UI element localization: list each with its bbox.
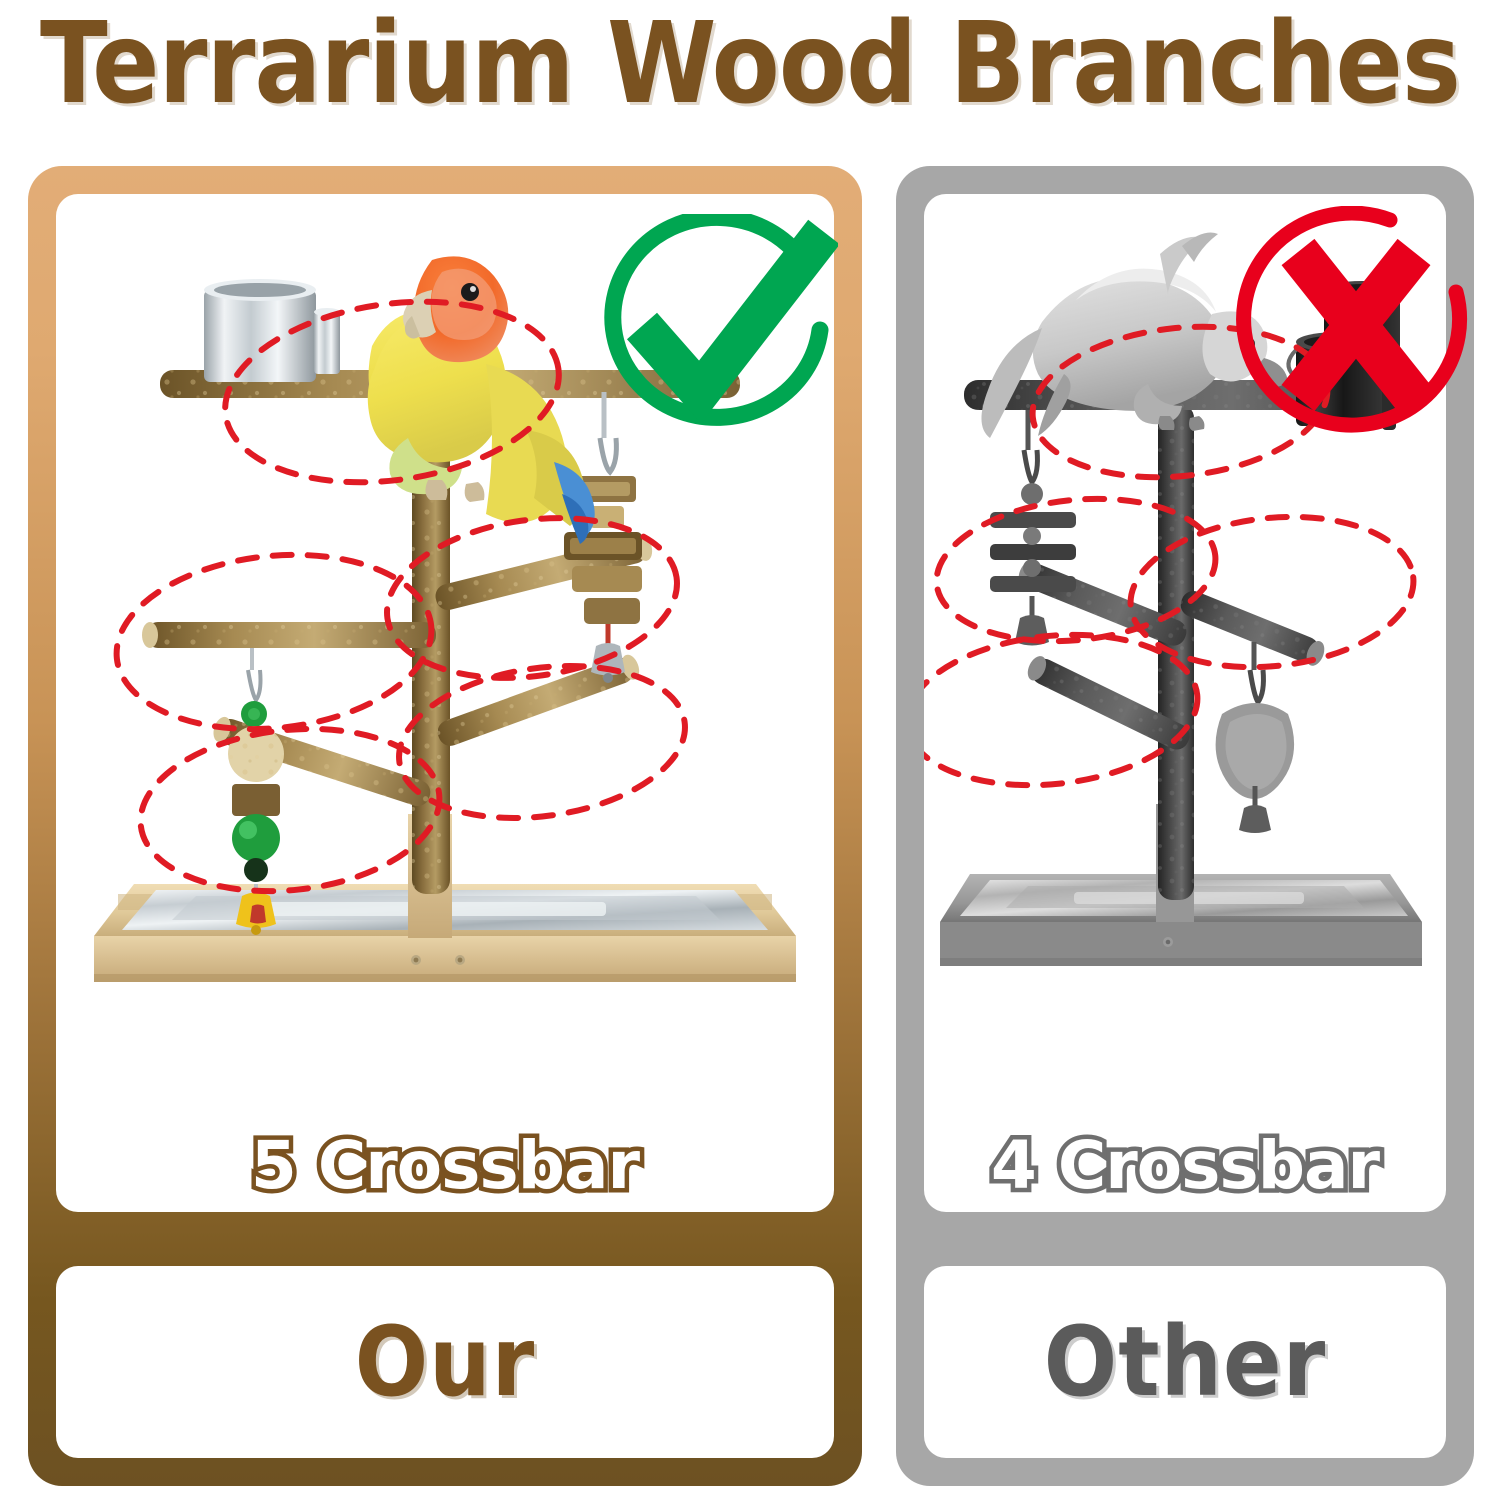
bottom-label-card-our: Our — [56, 1266, 834, 1458]
page-title: Terrarium Wood Branches — [11, 6, 1489, 124]
bottom-label-card-other: Other — [924, 1266, 1446, 1458]
product-image-card-other: 4 Crossbar — [924, 194, 1446, 1212]
brand-label-other: Other — [924, 1266, 1446, 1458]
hanging-wood-block-toy — [564, 392, 642, 683]
feeding-cups — [204, 279, 340, 382]
infographic-root: Terrarium Wood Branches — [0, 0, 1500, 1497]
product-image-card-our: 5 Crossbar — [56, 194, 834, 1212]
variant-label-other: 4 Crossbar — [924, 1127, 1446, 1204]
panel-other: 4 Crossbar Other — [896, 166, 1474, 1486]
brand-label-our: Our — [56, 1266, 834, 1458]
product-photo-other — [924, 194, 1446, 1116]
panel-our: 5 Crossbar Our — [28, 166, 862, 1486]
product-photo-our — [56, 194, 834, 1116]
variant-label-our: 5 Crossbar — [56, 1127, 834, 1204]
hanging-ladder-toy-other — [990, 410, 1076, 646]
hanging-shredder-toy-other — [1216, 642, 1294, 833]
